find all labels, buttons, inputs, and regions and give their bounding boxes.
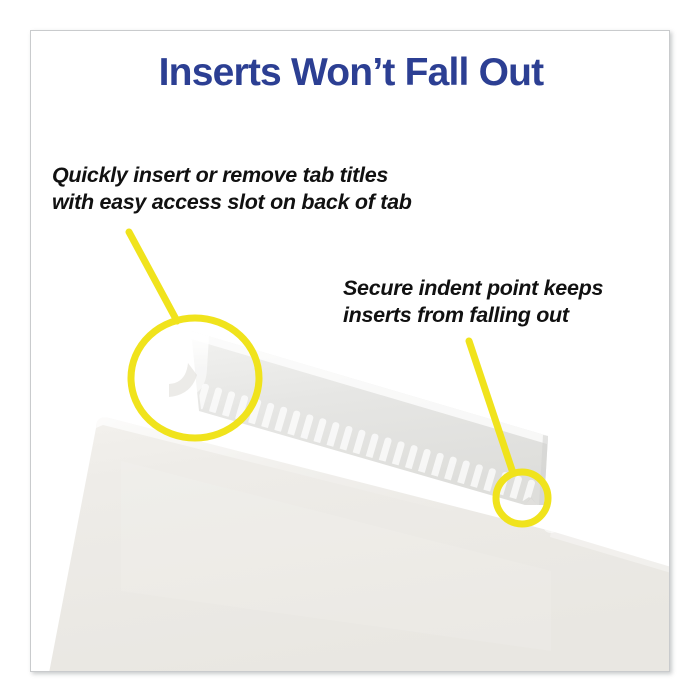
photo-frame: Inserts Won’t Fall Out Quickly insert or… <box>30 30 670 672</box>
product-illustration <box>31 31 670 672</box>
product-photo <box>31 31 670 672</box>
callout-caption-left: Quickly insert or remove tab titles with… <box>52 162 412 216</box>
product-callout-image: Inserts Won’t Fall Out Quickly insert or… <box>0 0 700 700</box>
indent-point-highlight <box>544 523 558 533</box>
page-title: Inserts Won’t Fall Out <box>31 51 670 95</box>
callout-caption-right: Secure indent point keeps inserts from f… <box>343 275 603 329</box>
